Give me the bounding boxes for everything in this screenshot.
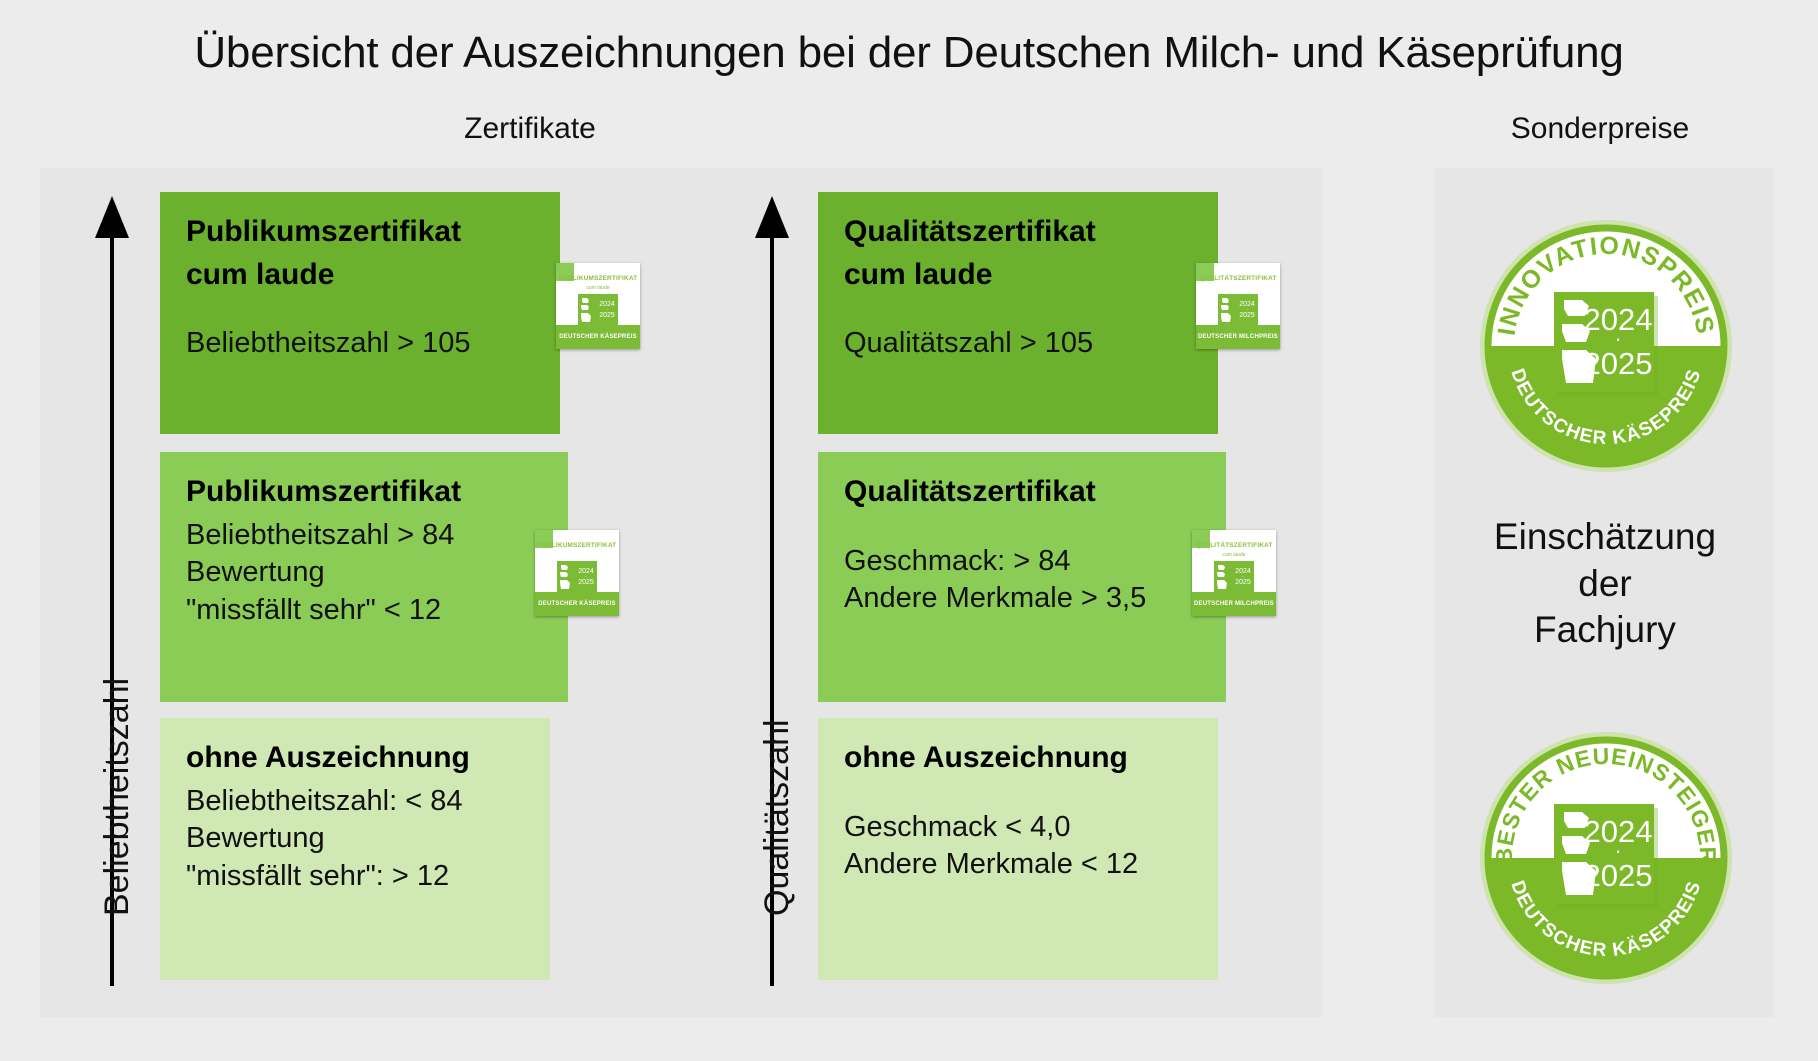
certificate-heading: PUBLIKUMSZERTIFIKAT <box>556 275 640 282</box>
box-title: ohne Auszeichnung <box>844 740 1192 777</box>
certificate-footer: DEUTSCHER KÄSEPREIS <box>535 592 619 616</box>
year-end: 2025 <box>599 312 615 319</box>
box-criterion: "missfällt sehr" < 12 <box>186 592 542 630</box>
page-title: Übersicht der Auszeichnungen bei der Deu… <box>0 28 1818 78</box>
box-criterion: Geschmack < 4,0 <box>844 809 1192 847</box>
box-title: Publikumszertifikat <box>186 474 542 511</box>
column-header-zertifikate: Zertifikate <box>380 112 680 146</box>
box-publikumszertifikat-cum-laude: Publikumszertifikat cum laude Beliebthei… <box>160 192 560 434</box>
certificate-heading: QUALITÄTSZERTIFIKAT <box>1196 275 1280 282</box>
certificate-subheading: cum laude <box>556 285 640 291</box>
year-end: 2025 <box>1235 579 1251 586</box>
axis-label-beliebtheitszahl: Beliebtheitszahl <box>98 678 137 916</box>
box-title: Qualitätszertifikat <box>844 214 1192 251</box>
year-end: 2025 <box>1239 312 1255 319</box>
milk-award-logo-icon: 2024 · 2025 <box>1217 293 1259 327</box>
badge-year-end: 2025 <box>1584 346 1653 381</box>
animal-silhouettes-icon <box>559 563 575 591</box>
box-criterion: "missfällt sehr": > 12 <box>186 858 524 896</box>
certificate-heading: PUBLIKUMSZERTIFIKAT <box>535 542 619 549</box>
box-qualitaetszertifikat-cum-laude: Qualitätszertifikat cum laude Qualitätsz… <box>818 192 1218 434</box>
certificate-footer: DEUTSCHER MILCHPREIS <box>1196 325 1280 349</box>
box-criterion: Bewertung <box>186 554 542 592</box>
badge-innovationspreis: INNOVATIONSPREIS DEUTSCHER KÄSEPREIS 202… <box>1478 218 1734 474</box>
certificate-heading: QUALITÄTSZERTIFIKAT <box>1192 542 1276 549</box>
cheese-award-logo-icon: 2024 · 2025 <box>556 560 598 594</box>
cheese-award-logo-icon: 2024 · 2025 <box>577 293 619 327</box>
animal-silhouettes-icon <box>1220 296 1236 324</box>
box-publikumszertifikat: Publikumszertifikat Beliebtheitszahl > 8… <box>160 452 568 702</box>
certificate-years: 2024 · 2025 <box>596 301 618 320</box>
certificate-footer: DEUTSCHER KÄSEPREIS <box>556 325 640 349</box>
box-criterion: Beliebtheitszahl > 84 <box>186 517 542 555</box>
jury-line-2: der <box>1440 561 1770 608</box>
certificate-thumbnail-qualitaetszertifikat: QUALITÄTSZERTIFIKAT cum laude 2024 · 202… <box>1192 530 1276 616</box>
box-title: Qualitätszertifikat <box>844 474 1200 511</box>
box-publikum-ohne-auszeichnung: ohne Auszeichnung Beliebtheitszahl: < 84… <box>160 718 550 980</box>
box-subtitle: cum laude <box>186 257 534 294</box>
box-criterion: Geschmack: > 84 <box>844 543 1200 581</box>
certificate-footer: DEUTSCHER MILCHPREIS <box>1192 592 1276 616</box>
box-criterion: Qualitätszahl > 105 <box>844 325 1192 363</box>
certificate-thumbnail-publikumszertifikat-cum-laude: PUBLIKUMSZERTIFIKAT cum laude 2024 · 202… <box>556 263 640 349</box>
diagram-canvas: Übersicht der Auszeichnungen bei der Deu… <box>0 0 1818 1061</box>
badge-bester-neueinsteiger: BESTER NEUEINSTEIGER DEUTSCHER KÄSEPREIS… <box>1478 730 1734 986</box>
jury-assessment-text: Einschätzung der Fachjury <box>1440 514 1770 654</box>
box-criterion: Beliebtheitszahl > 105 <box>186 325 534 363</box>
axis-label-qualitaetszahl: Qualitätszahl <box>758 719 797 916</box>
box-qualitaetszertifikat: Qualitätszertifikat Geschmack: > 84 Ande… <box>818 452 1226 702</box>
year-end: 2025 <box>578 579 594 586</box>
box-qualitaet-ohne-auszeichnung: ohne Auszeichnung Geschmack < 4,0 Andere… <box>818 718 1218 980</box>
certificate-thumbnail-qualitaetszertifikat-cum-laude: QUALITÄTSZERTIFIKAT 2024 · 2025 DEUTSCHE… <box>1196 263 1280 349</box>
badge-year-end: 2025 <box>1584 858 1653 893</box>
milk-award-logo-icon: 2024 · 2025 <box>1213 560 1255 594</box>
box-criterion: Beliebtheitszahl: < 84 <box>186 783 524 821</box>
certificate-thumbnail-publikumszertifikat: PUBLIKUMSZERTIFIKAT 2024 · 2025 DEUTSCHE… <box>535 530 619 616</box>
certificate-years: 2024 · 2025 <box>1236 301 1258 320</box>
certificate-years: 2024 · 2025 <box>575 568 597 587</box>
box-title: Publikumszertifikat <box>186 214 534 251</box>
box-subtitle: cum laude <box>844 257 1192 294</box>
column-header-sonderpreise: Sonderpreise <box>1440 112 1760 146</box>
box-title: ohne Auszeichnung <box>186 740 524 777</box>
box-criterion: Andere Merkmale < 12 <box>844 846 1192 884</box>
certificate-subheading: cum laude <box>1192 552 1276 558</box>
jury-line-3: Fachjury <box>1440 607 1770 654</box>
box-criterion: Andere Merkmale > 3,5 <box>844 580 1200 618</box>
jury-line-1: Einschätzung <box>1440 514 1770 561</box>
certificate-years: 2024 · 2025 <box>1232 568 1254 587</box>
animal-silhouettes-icon <box>580 296 596 324</box>
animal-silhouettes-icon <box>1216 563 1232 591</box>
box-criterion: Bewertung <box>186 820 524 858</box>
